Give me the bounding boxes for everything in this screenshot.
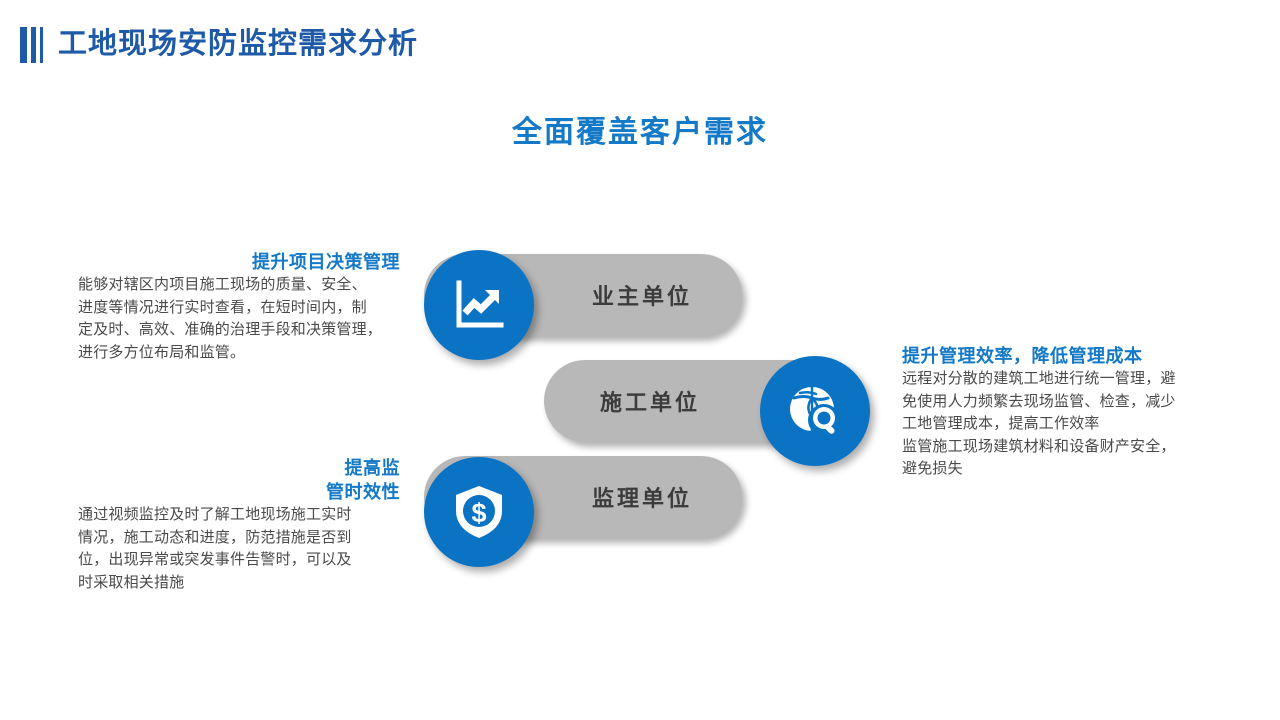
callout-top-left-title: 提升项目决策管理 <box>78 250 400 274</box>
callout-line: 通过视频监控及时了解工地现场施工实时 <box>78 504 400 527</box>
diagram-icon-circle-2[interactable] <box>760 356 870 466</box>
callout-line: 远程对分散的建筑工地进行统一管理，避 <box>902 368 1232 391</box>
callout-right: 提升管理效率，降低管理成本 远程对分散的建筑工地进行统一管理，避 免使用人力频繁… <box>902 344 1232 481</box>
slide-canvas: 工地现场安防监控需求分析 全面覆盖客户需求 业主单位 施工单位 <box>0 0 1280 720</box>
callout-line: 时采取相关措施 <box>78 572 400 595</box>
diagram-pill-2-label: 施工单位 <box>544 360 756 442</box>
diagram-pill-3-label: 监理单位 <box>542 456 742 538</box>
diagram-icon-circle-1[interactable] <box>424 250 534 360</box>
callout-right-body: 远程对分散的建筑工地进行统一管理，避 免使用人力频繁去现场监管、检查，减少 工地… <box>902 368 1232 481</box>
callout-line: 能够对辖区内项目施工现场的质量、安全、 <box>78 274 400 297</box>
callout-top-left: 提升项目决策管理 能够对辖区内项目施工现场的质量、安全、 进度等情况进行实时查看… <box>78 250 400 364</box>
globe-search-icon <box>786 382 844 440</box>
callout-line: 工地管理成本，提高工作效率 <box>902 413 1232 436</box>
callout-line: 进行多方位布局和监管。 <box>78 342 400 365</box>
diagram-pill-1-label: 业主单位 <box>542 254 742 336</box>
callout-line: 避免损失 <box>902 458 1232 481</box>
callout-line: 定及时、高效、准确的治理手段和决策管理， <box>78 319 400 342</box>
callout-line: 位，出现异常或突发事件告警时，可以及 <box>78 549 400 572</box>
callout-line: 监管施工现场建筑材料和设备财产安全， <box>902 436 1232 459</box>
callout-top-left-body: 能够对辖区内项目施工现场的质量、安全、 进度等情况进行实时查看，在短时间内，制 … <box>78 274 400 364</box>
callout-bottom-left-body: 通过视频监控及时了解工地现场施工实时 情况，施工动态和进度，防范措施是否到 位，… <box>78 504 400 594</box>
chart-growth-icon <box>451 277 507 333</box>
svg-text:$: $ <box>471 498 486 528</box>
callout-bottom-left-title-line-1: 提高监 <box>78 456 400 480</box>
callout-line: 情况，施工动态和进度，防范措施是否到 <box>78 527 400 550</box>
callout-line: 进度等情况进行实时查看，在短时间内，制 <box>78 297 400 320</box>
callout-bottom-left-title-line-2: 管时效性 <box>78 480 400 504</box>
callout-bottom-left: 提高监 管时效性 通过视频监控及时了解工地现场施工实时 情况，施工动态和进度，防… <box>78 456 400 594</box>
callout-line: 免使用人力频繁去现场监管、检查，减少 <box>902 391 1232 414</box>
callout-right-title: 提升管理效率，降低管理成本 <box>902 344 1232 368</box>
diagram-icon-circle-3[interactable]: $ <box>424 457 534 567</box>
shield-dollar-icon: $ <box>450 483 508 541</box>
